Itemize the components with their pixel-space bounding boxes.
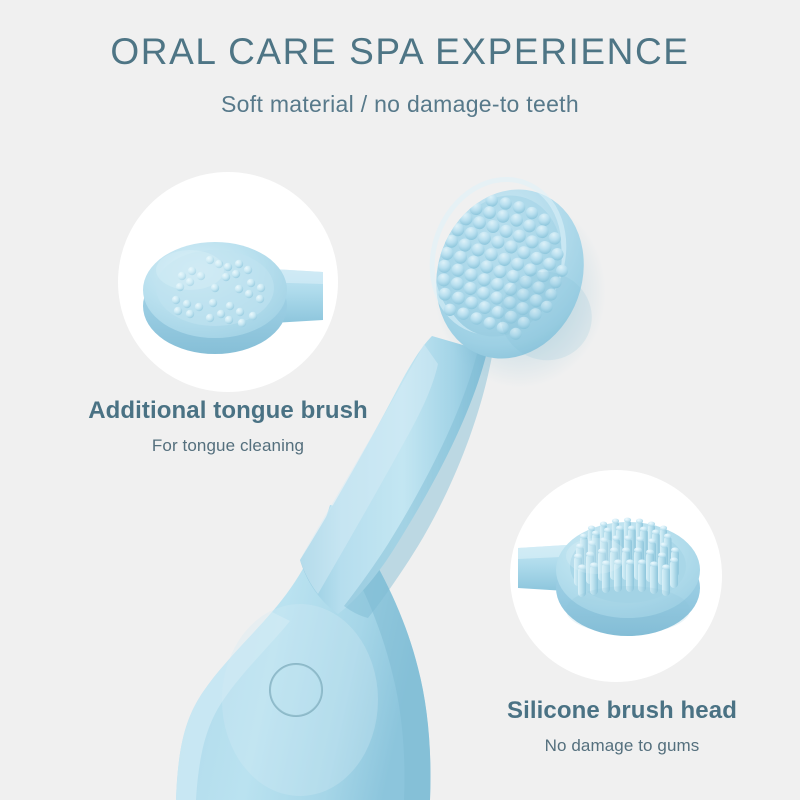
headline-block: ORAL CARE SPA EXPERIENCE Soft material /… — [0, 0, 800, 118]
tongue-pad-sheen — [156, 250, 224, 290]
power-button-face[interactable] — [270, 664, 322, 716]
caption-silicone-brush-head: Silicone brush head No damage to gums — [462, 696, 782, 757]
caption-brush-subtitle: No damage to gums — [462, 725, 782, 756]
brush-pad-sheen — [566, 538, 626, 574]
silicone-brush-head-art — [510, 470, 722, 682]
product-marketing-image: ORAL CARE SPA EXPERIENCE Soft material /… — [0, 0, 800, 800]
callout-tongue-brush — [118, 172, 338, 392]
caption-tongue-brush: Additional tongue brush For tongue clean… — [36, 396, 420, 457]
caption-brush-title: Silicone brush head — [462, 696, 782, 725]
callout-silicone-brush-head — [510, 470, 722, 682]
page-title: ORAL CARE SPA EXPERIENCE — [0, 0, 800, 74]
brush-pad-lower-shade — [566, 586, 690, 634]
caption-tongue-subtitle: For tongue cleaning — [36, 425, 420, 456]
tongue-brush-art — [118, 172, 338, 392]
caption-tongue-title: Additional tongue brush — [36, 396, 420, 425]
page-subtitle: Soft material / no damage-to teeth — [0, 74, 800, 119]
